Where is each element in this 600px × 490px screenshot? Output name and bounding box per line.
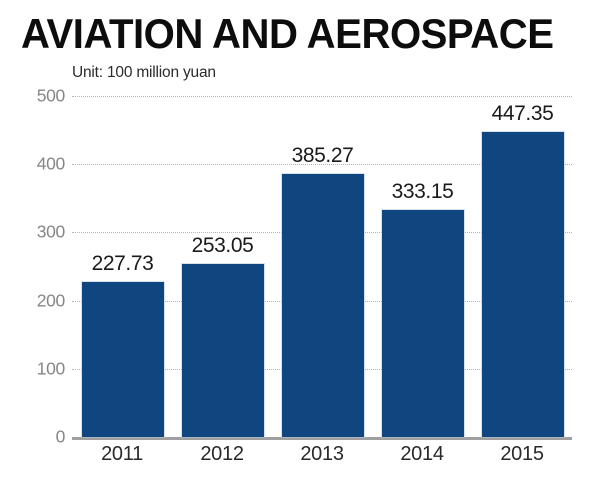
x-axis: 20112012201320142015 xyxy=(72,443,572,479)
y-tick-label-400: 400 xyxy=(19,154,65,175)
bar-value-label-2011: 227.73 xyxy=(92,252,154,276)
y-axis: 0100200300400500 xyxy=(13,96,65,437)
y-tick-label-100: 100 xyxy=(19,358,65,379)
bar-group-2011[interactable]: 227.73 xyxy=(82,96,164,437)
x-tick-label-2011: 2011 xyxy=(72,443,172,466)
x-tick-label-2012: 2012 xyxy=(172,443,272,466)
bar-2012[interactable] xyxy=(182,264,264,437)
y-tick-label-200: 200 xyxy=(19,290,65,311)
bar-2011[interactable] xyxy=(82,282,164,437)
bar-group-2014[interactable]: 333.15 xyxy=(382,96,464,437)
bar-2013[interactable] xyxy=(282,174,364,437)
bar-2014[interactable] xyxy=(382,210,464,437)
bar-2015[interactable] xyxy=(482,132,564,437)
y-tick-label-0: 0 xyxy=(19,427,65,448)
chart-page: AVIATION AND AEROSPACE Unit: 100 million… xyxy=(0,0,600,490)
y-tick-label-500: 500 xyxy=(19,86,65,107)
bar-series: 227.73253.05385.27333.15447.35 xyxy=(72,96,572,437)
bar-value-label-2013: 385.27 xyxy=(292,144,354,168)
bar-group-2012[interactable]: 253.05 xyxy=(182,96,264,437)
x-axis-line xyxy=(72,437,572,440)
x-tick-label-2015: 2015 xyxy=(472,443,572,466)
bar-group-2013[interactable]: 385.27 xyxy=(282,96,364,437)
x-tick-label-2014: 2014 xyxy=(372,443,472,466)
bar-value-label-2012: 253.05 xyxy=(192,234,254,258)
page-title: AVIATION AND AEROSPACE xyxy=(21,13,554,55)
bar-group-2015[interactable]: 447.35 xyxy=(482,96,564,437)
y-tick-label-300: 300 xyxy=(19,222,65,243)
bar-value-label-2014: 333.15 xyxy=(392,180,454,204)
bar-value-label-2015: 447.35 xyxy=(492,102,554,126)
x-tick-label-2013: 2013 xyxy=(272,443,372,466)
unit-subtitle: Unit: 100 million yuan xyxy=(72,64,216,82)
